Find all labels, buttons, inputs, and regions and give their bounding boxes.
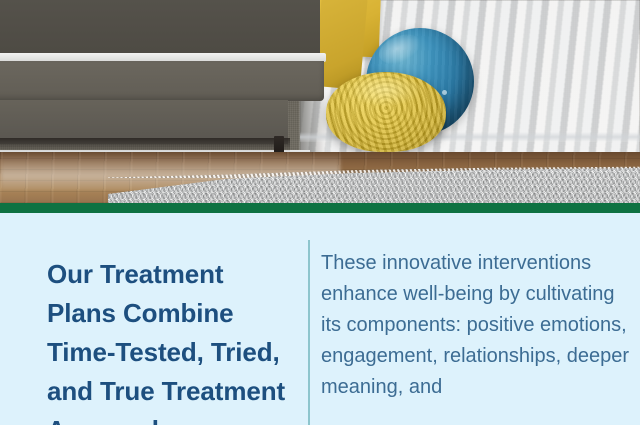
sofa-backrest <box>0 0 320 58</box>
content-section: Our Treatment Plans Combine Time-Tested,… <box>0 213 640 425</box>
section-body-text: These innovative interventions enhance w… <box>321 248 631 403</box>
section-heading: Our Treatment Plans Combine Time-Tested,… <box>47 255 297 425</box>
sofa-shadow <box>0 138 290 152</box>
heading-column: Our Treatment Plans Combine Time-Tested,… <box>47 255 297 425</box>
knit-pouf <box>326 72 446 152</box>
hero-photo <box>0 0 640 203</box>
sofa-seat <box>0 61 324 101</box>
knit-pouf-highlight <box>348 76 422 106</box>
green-divider-bar <box>0 203 640 213</box>
column-divider-rule <box>308 240 310 425</box>
page-root: Our Treatment Plans Combine Time-Tested,… <box>0 0 640 425</box>
body-column: These innovative interventions enhance w… <box>321 248 631 403</box>
exercise-ball-valve <box>442 90 447 95</box>
